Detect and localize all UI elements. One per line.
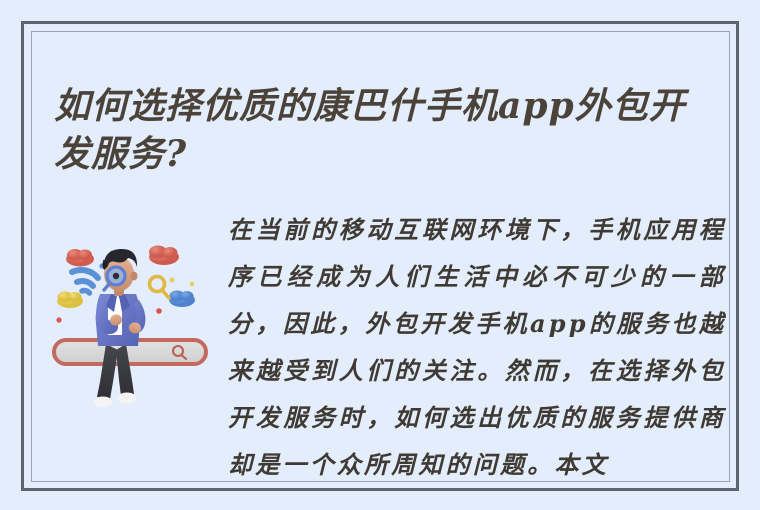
article-body-text: 在当前的移动互联网环境下，手机应用程序已经成为人们生活中必不可少的一部分，因此，… xyxy=(228,206,726,488)
cloud-red-left-icon xyxy=(66,249,94,267)
dot-red-icon xyxy=(56,317,61,322)
cloud-blue-right-icon xyxy=(169,291,195,308)
dot-yellow-icon xyxy=(170,278,175,283)
dot-yellow-2-icon xyxy=(190,282,194,286)
hero-illustration xyxy=(44,232,216,412)
cloud-red-right-icon xyxy=(149,246,179,266)
article-page: 如何选择优质的康巴什手机app外包开发服务? xyxy=(0,0,760,510)
dot-red-2-icon xyxy=(156,308,162,314)
page-title: 如何选择优质的康巴什手机app外包开发服务? xyxy=(54,82,714,178)
cloud-yellow-left-icon xyxy=(57,292,83,309)
